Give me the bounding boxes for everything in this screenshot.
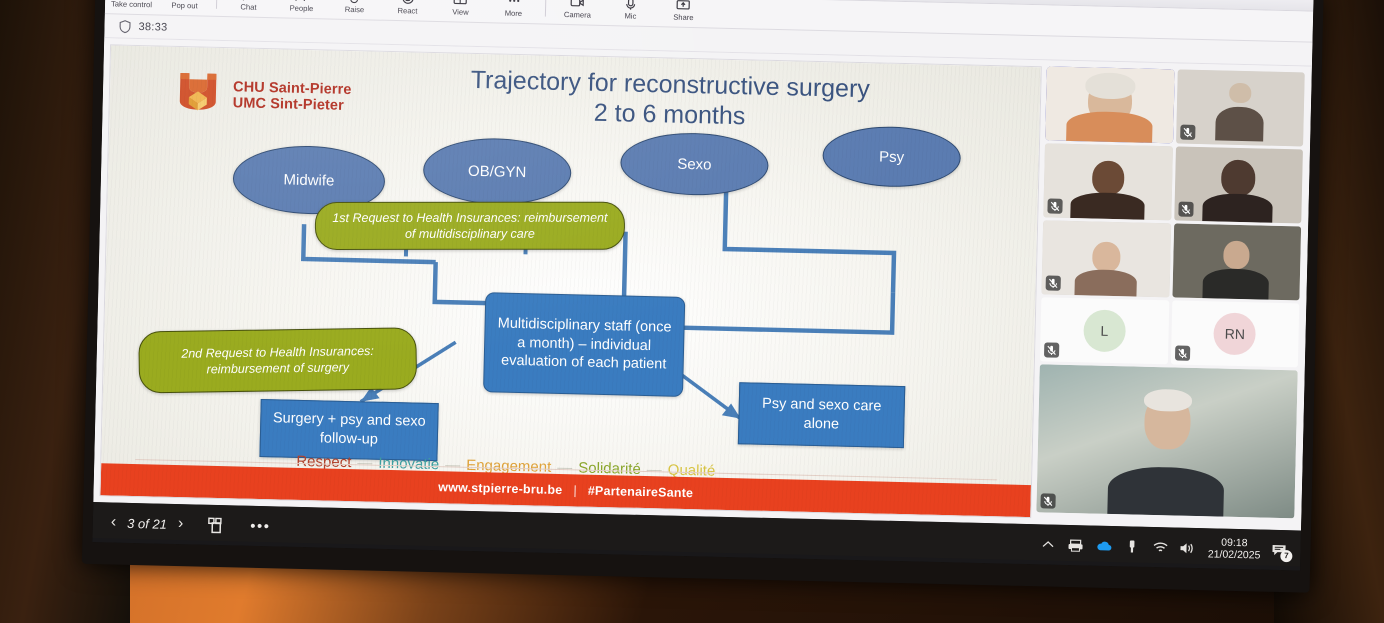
slide-grid-icon[interactable] — [208, 516, 227, 533]
people-label: People — [290, 4, 314, 15]
oval-sexo-label: Sexo — [677, 155, 712, 173]
camera-icon — [570, 0, 585, 10]
take-control-label: Take control — [111, 0, 152, 10]
printer-icon[interactable] — [1068, 537, 1085, 554]
share-button[interactable]: Share — [657, 0, 711, 23]
blue-box-multidisciplinary-staff-label: Multidisciplinary staff (once a month) –… — [495, 315, 674, 375]
hospital-logo: CHU Saint-Pierre UMC Sint-Pieter — [171, 69, 352, 123]
laptop: meeting with Juliet & co Take control — [10, 0, 1366, 623]
toolbar-divider-2 — [545, 0, 546, 17]
green-box-second-request-label: 2nd Request to Health Insurances: reimbu… — [151, 342, 403, 378]
share-icon — [676, 0, 691, 13]
video-feed — [1045, 66, 1174, 143]
oval-obgyn-label: OB/GYN — [468, 162, 527, 180]
participant-avatar-RN[interactable]: RN — [1170, 300, 1299, 367]
roster-row-3 — [1041, 220, 1301, 300]
device-controls: Camera Mic Share — [551, 0, 711, 23]
participant-video-1[interactable] — [1045, 66, 1174, 143]
logo-line-nl: UMC Sint-Pieter — [233, 95, 352, 114]
share-label: Share — [673, 13, 693, 23]
mic-label: Mic — [624, 11, 636, 21]
raise-hand-button[interactable]: Raise — [328, 0, 382, 16]
video-feed — [1036, 364, 1297, 518]
slide-canvas: CHU Saint-Pierre UMC Sint-Pieter Traject… — [100, 45, 1040, 517]
avatar-initials: RN — [1225, 326, 1246, 342]
participant-roster: L RN — [1036, 66, 1305, 524]
pop-out-label: Pop out — [171, 1, 197, 12]
participant-video-3[interactable] — [1043, 143, 1172, 220]
mic-off-icon — [1174, 345, 1189, 360]
camera-button[interactable]: Camera — [551, 0, 605, 21]
slide-counter: 3 of 21 — [127, 515, 167, 531]
mic-off-icon — [1040, 493, 1055, 508]
green-box-first-request: 1st Request to Health Insurances: reimbu… — [315, 202, 625, 250]
pop-out-button[interactable]: Pop out — [158, 0, 212, 12]
video-feed — [1176, 69, 1305, 146]
meeting-timer: 38:33 — [138, 20, 167, 33]
meeting-controls: Chat 9 People — [222, 0, 541, 19]
avatar: L — [1083, 309, 1126, 352]
roster-row-2 — [1043, 143, 1303, 223]
screenshot-root: meeting with Juliet & co Take control — [0, 0, 1384, 623]
participant-video-4[interactable] — [1174, 146, 1303, 223]
wifi-icon[interactable] — [1152, 538, 1169, 555]
show-hidden-icons-icon[interactable] — [1040, 536, 1057, 553]
camera-label: Camera — [564, 10, 591, 21]
video-feed — [1174, 146, 1303, 223]
raise-label: Raise — [345, 5, 365, 15]
oval-sexo: Sexo — [620, 131, 769, 196]
more-options-icon[interactable]: ••• — [250, 517, 271, 534]
mic-off-icon — [1044, 342, 1059, 357]
presenter-controls: Take control Pop out — [105, 0, 212, 12]
chevron-left-icon[interactable]: ‹ — [111, 514, 117, 530]
oval-obgyn: OB/GYN — [422, 137, 572, 206]
participant-video-2[interactable] — [1176, 69, 1305, 146]
meeting-stage: CHU Saint-Pierre UMC Sint-Pieter Traject… — [93, 38, 1312, 530]
more-button[interactable]: More — [487, 0, 541, 19]
volume-icon[interactable] — [1180, 539, 1197, 556]
avatar-initials: L — [1100, 323, 1108, 339]
usb-device-icon[interactable] — [1124, 538, 1141, 555]
chu-saint-pierre-logo — [171, 69, 224, 120]
mic-off-icon — [1046, 275, 1061, 290]
video-feed — [1172, 223, 1301, 300]
mic-icon — [624, 0, 637, 12]
mic-off-icon — [1047, 198, 1062, 213]
laptop-screen: meeting with Juliet & co Take control — [92, 0, 1313, 570]
oval-psy-label: Psy — [879, 148, 904, 166]
more-icon — [507, 0, 521, 9]
footer-website: www.stpierre-bru.be — [438, 480, 562, 497]
oval-midwife-label: Midwife — [283, 171, 334, 189]
view-button[interactable]: View — [434, 0, 488, 18]
video-feed — [1043, 143, 1172, 220]
blue-box-psy-sexo-alone-label: Psy and sexo care alone — [749, 395, 894, 435]
system-clock[interactable]: 09:18 21/02/2025 — [1208, 536, 1261, 561]
react-button[interactable]: React — [381, 0, 435, 17]
teams-window: meeting with Juliet & co Take control — [93, 0, 1313, 531]
blue-box-multidisciplinary-staff: Multidisciplinary staff (once a month) –… — [483, 292, 685, 397]
people-button[interactable]: 9 People — [275, 0, 329, 14]
more-label: More — [505, 9, 523, 19]
logo-text: CHU Saint-Pierre UMC Sint-Pieter — [233, 79, 352, 114]
shield-icon — [118, 19, 131, 33]
footer-hashtag: #PartenaireSante — [588, 484, 694, 500]
participant-video-large[interactable] — [1036, 364, 1297, 518]
chat-button[interactable]: Chat — [222, 0, 276, 13]
participant-avatar-L[interactable]: L — [1040, 297, 1169, 364]
toolbar-divider — [216, 0, 217, 9]
view-label: View — [452, 7, 469, 17]
roster-row-1 — [1045, 66, 1305, 146]
clock-date: 21/02/2025 — [1208, 548, 1261, 561]
chevron-right-icon[interactable]: › — [178, 516, 184, 532]
react-label: React — [397, 6, 417, 16]
notifications-icon[interactable]: 7 — [1271, 541, 1288, 558]
slide-navigation: ‹ 3 of 21 › ••• — [93, 514, 271, 535]
chat-label: Chat — [240, 2, 256, 12]
mic-button[interactable]: Mic — [604, 0, 658, 22]
footer-separator: | — [573, 483, 577, 497]
green-box-first-request-label: 1st Request to Health Insurances: reimbu… — [328, 209, 612, 242]
participant-video-6[interactable] — [1172, 223, 1301, 300]
mic-off-icon — [1178, 202, 1193, 217]
video-feed — [1041, 220, 1170, 297]
green-box-second-request: 2nd Request to Health Insurances: reimbu… — [138, 327, 417, 393]
blue-box-psy-sexo-alone: Psy and sexo care alone — [738, 382, 905, 448]
onedrive-cloud-icon[interactable] — [1096, 537, 1113, 554]
avatar: RN — [1213, 312, 1256, 355]
roster-row-4: L RN — [1040, 297, 1299, 367]
blue-box-surgery-followup: Surgery + psy and sexo follow-up — [259, 399, 438, 461]
take-control-button[interactable]: Take control — [105, 0, 159, 10]
mic-off-icon — [1180, 125, 1195, 140]
shared-slide[interactable]: CHU Saint-Pierre UMC Sint-Pieter Traject… — [99, 44, 1041, 518]
notifications-count: 7 — [1280, 550, 1292, 562]
blue-box-surgery-followup-label: Surgery + psy and sexo follow-up — [271, 410, 428, 451]
participant-video-5[interactable] — [1041, 220, 1170, 297]
